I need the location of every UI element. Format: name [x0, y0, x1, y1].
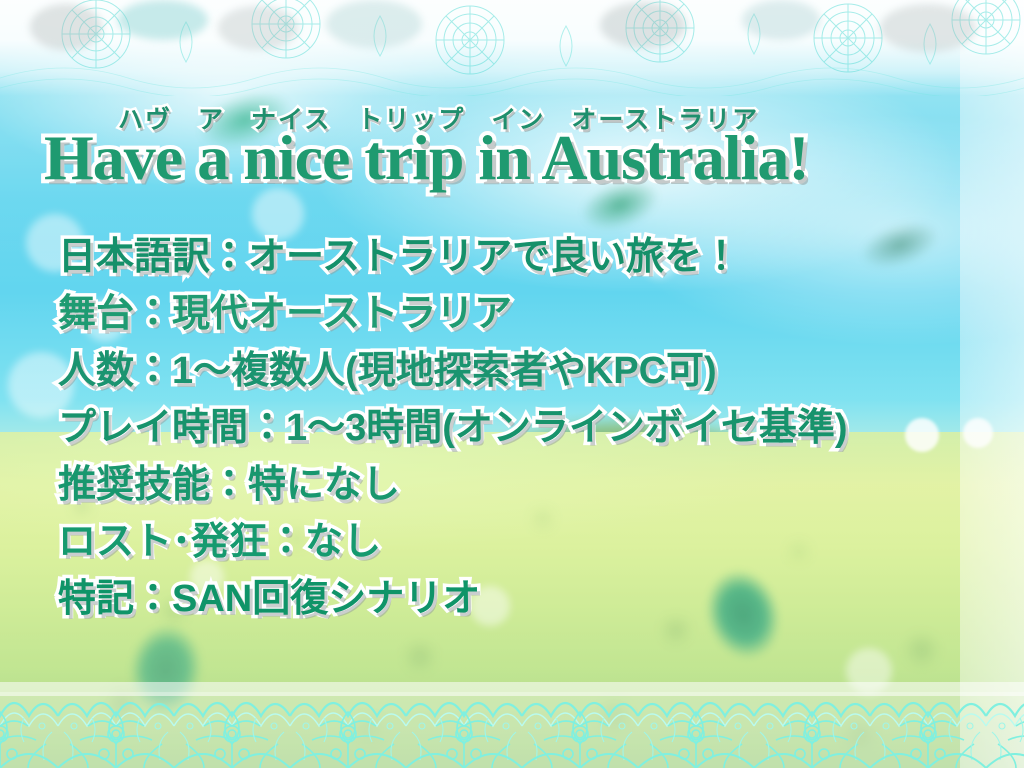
lace-border-bottom-icon	[0, 682, 1024, 768]
scenario-details-list: 日本語訳：オーストラリアで良い旅を！ 舞台：現代オーストラリア 人数：1〜複数人…	[58, 238, 988, 637]
page-title: Have a nice trip in Australia!	[44, 126, 1004, 190]
detail-line-play-time: プレイ時間：1〜3時間(オンラインボイセ基準)	[58, 409, 988, 447]
detail-line-setting: 舞台：現代オーストラリア	[58, 295, 988, 333]
top-cloud-5	[600, 2, 686, 48]
top-cloud-2	[118, 0, 208, 40]
detail-line-player-count: 人数：1〜複数人(現地探索者やKPC可)	[58, 352, 988, 390]
top-cloud-7	[880, 4, 976, 52]
top-cloud-3	[218, 6, 298, 50]
detail-line-lost-insanity: ロスト･発狂：なし	[58, 523, 988, 561]
detail-line-skills: 推奨技能：特になし	[58, 466, 988, 504]
detail-line-notes: 特記：SAN回復シナリオ	[58, 580, 988, 618]
detail-line-translation: 日本語訳：オーストラリアで良い旅を！	[58, 238, 988, 276]
top-cloud-4	[326, 0, 422, 48]
poster-canvas: ハヴ ア ナイス トリップ イン オーストラリア Have a nice tri…	[0, 0, 1024, 768]
top-cloud-1	[30, 4, 102, 50]
top-cloud-6	[742, 0, 820, 40]
